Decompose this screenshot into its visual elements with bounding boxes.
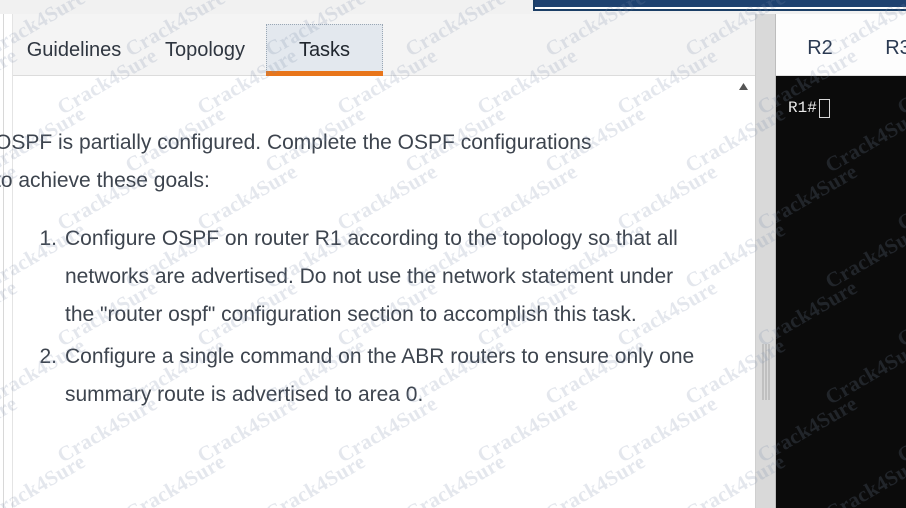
tab-tasks-label: Tasks (299, 39, 350, 62)
grip-line (765, 344, 766, 400)
router-tabbar: R2 R3 (776, 14, 906, 76)
tasks-content: OSPF is partially configured. Complete t… (13, 76, 755, 508)
tab-router-r2[interactable]: R2 (792, 26, 848, 70)
terminal-cursor (819, 99, 830, 118)
tab-topology[interactable]: Topology (153, 24, 257, 76)
task-item-text: Configure a single command on the ABR ro… (65, 345, 694, 406)
tab-guidelines[interactable]: Guidelines (13, 24, 135, 76)
window-titlebar-frame (533, 0, 906, 11)
console-panel: R2 R3 R1# (776, 14, 906, 508)
router-terminal[interactable]: R1# (776, 76, 906, 508)
window-titlebar-strip (0, 0, 906, 14)
tab-router-r3[interactable]: R3 (870, 26, 906, 70)
scroll-up-arrow-icon[interactable] (738, 82, 749, 91)
tab-topology-label: Topology (165, 39, 245, 62)
window-titlebar-fill (535, 0, 906, 7)
tab-router-r2-label: R2 (807, 37, 833, 60)
task-item: 1. Configure OSPF on router R1 according… (27, 220, 707, 334)
tab-guidelines-label: Guidelines (27, 39, 122, 62)
task-item-text: Configure OSPF on router R1 according to… (65, 227, 678, 326)
tab-router-r3-label: R3 (885, 37, 906, 60)
task-item: 2. Configure a single command on the ABR… (27, 338, 707, 414)
panel-splitter[interactable] (755, 14, 776, 508)
tasks-list: 1. Configure OSPF on router R1 according… (27, 220, 729, 414)
document-tabbar: Guidelines Topology Tasks (13, 14, 755, 76)
simulation-window: Guidelines Topology Tasks OSPF is partia… (0, 0, 906, 508)
splitter-grip-handle[interactable] (762, 344, 769, 400)
terminal-prompt-line: R1# (788, 98, 906, 118)
grip-line (768, 344, 769, 400)
terminal-prompt: R1# (788, 98, 817, 118)
tab-tasks[interactable]: Tasks (266, 24, 383, 76)
document-panel: Guidelines Topology Tasks OSPF is partia… (0, 14, 755, 508)
tasks-intro-text: OSPF is partially configured. Complete t… (0, 124, 595, 200)
panel-left-border (3, 14, 4, 508)
task-item-number: 2. (27, 338, 57, 376)
task-item-number: 1. (27, 220, 57, 258)
grip-line (762, 344, 763, 400)
